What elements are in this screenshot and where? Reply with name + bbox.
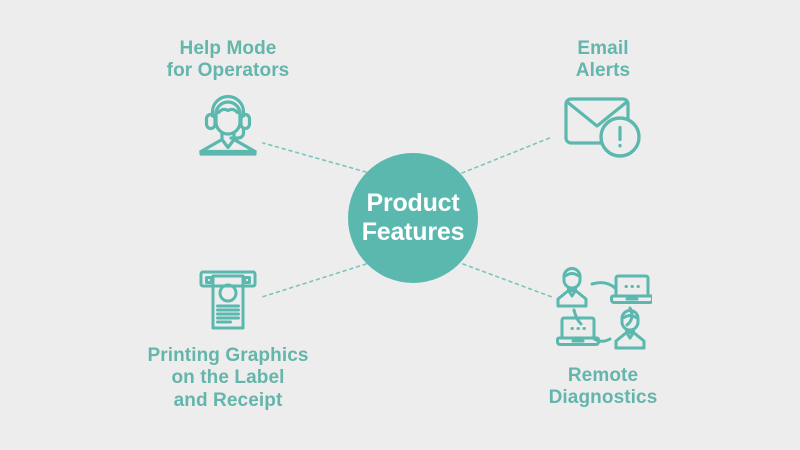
person-bottom-right-glyph	[616, 311, 644, 349]
node-printing-graphics[interactable]: Printing Graphics on the Label and Recei…	[132, 266, 324, 412]
node-help-mode[interactable]: Help Mode for Operators	[148, 38, 308, 166]
node-email-alerts-label: Email Alerts	[576, 38, 630, 83]
node-printing-graphics-label: Printing Graphics on the Label and Recei…	[147, 345, 308, 412]
laptop-top-right-glyph	[612, 276, 653, 303]
network-people-laptops-icon	[554, 266, 652, 359]
node-email-alerts[interactable]: Email Alerts	[528, 38, 678, 164]
node-remote-diagnostics[interactable]: Remote Diagnostics	[528, 266, 678, 410]
center-hub-label: Product Features	[362, 189, 465, 248]
envelope-alert-icon	[562, 89, 644, 164]
node-remote-diagnostics-label: Remote Diagnostics	[549, 365, 658, 410]
product-features-diagram: Help Mode for Operators	[0, 0, 800, 450]
node-help-mode-label: Help Mode for Operators	[167, 38, 290, 83]
center-hub-circle[interactable]: Product Features	[348, 153, 478, 283]
printer-receipt-icon	[190, 266, 266, 339]
headset-operator-icon	[190, 89, 266, 166]
person-top-left-glyph	[558, 269, 586, 307]
